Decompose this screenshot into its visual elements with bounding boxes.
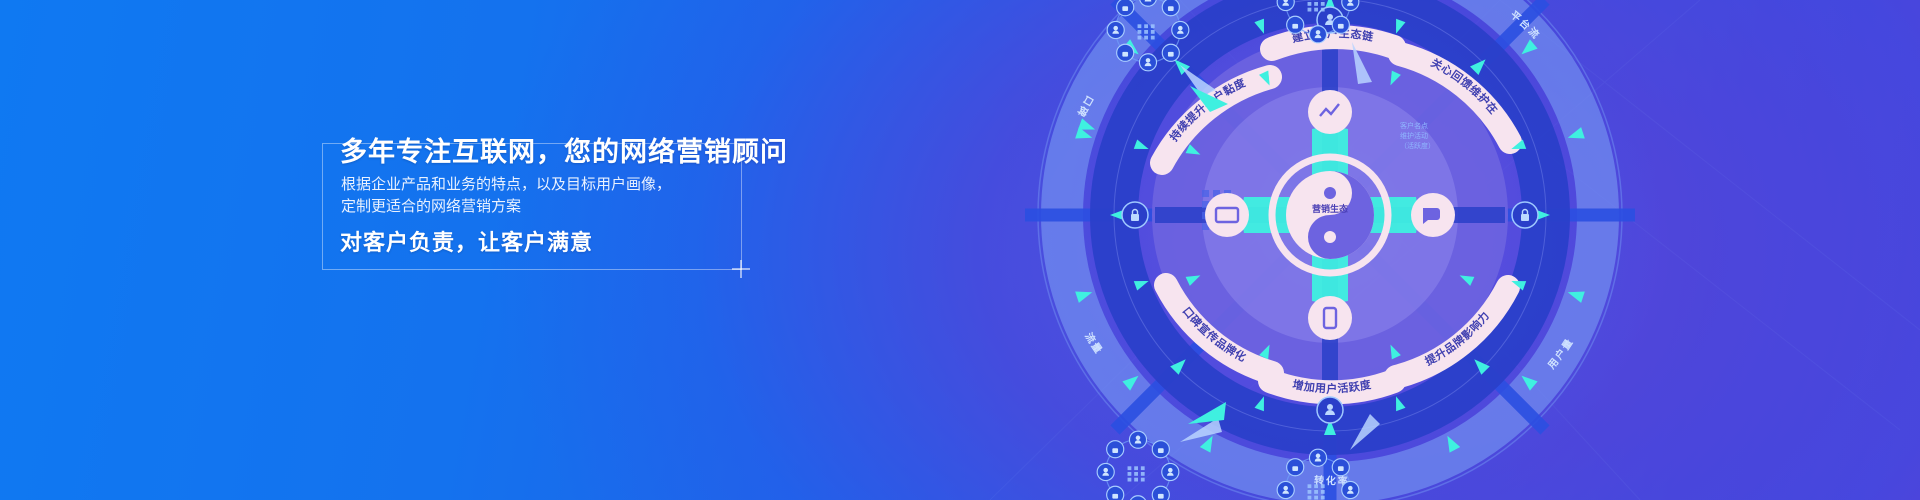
- subtitle-line-2: 定制更适合的网络营销方案: [341, 196, 521, 218]
- hub-node-chart: [1308, 90, 1352, 134]
- hub-note-line1: 客户名点: [1400, 121, 1428, 130]
- hub-node-mobile: [1308, 296, 1352, 340]
- wheel-svg: 持续提升客户黏度 建立客户生态链 关心回馈维护在 口碑宣传品牌化 增加用户活跃度…: [880, 0, 1780, 500]
- hub-note-line3: （活跃度）: [1400, 141, 1435, 150]
- hero-text-block: 多年专注互联网，您的网络营销顾问 根据企业产品和业务的特点，以及目标用户画像， …: [322, 143, 742, 270]
- hub-node-monitor: [1205, 193, 1249, 237]
- marketing-banner: 多年专注互联网，您的网络营销顾问 根据企业产品和业务的特点，以及目标用户画像， …: [0, 0, 1920, 500]
- hub-node-chat: [1411, 193, 1455, 237]
- hub-center-label: 营销生态: [1312, 203, 1348, 214]
- page-title: 多年专注互联网，您的网络营销顾问: [340, 130, 788, 169]
- hub-note-line2: 维护活动: [1400, 131, 1428, 140]
- marketing-ecosystem-wheel: 持续提升客户黏度 建立客户生态链 关心回馈维护在 口碑宣传品牌化 增加用户活跃度…: [880, 0, 1780, 500]
- tagline: 对客户负责，让客户满意: [340, 225, 593, 257]
- subtitle-line-1: 根据企业产品和业务的特点，以及目标用户画像，: [341, 174, 671, 196]
